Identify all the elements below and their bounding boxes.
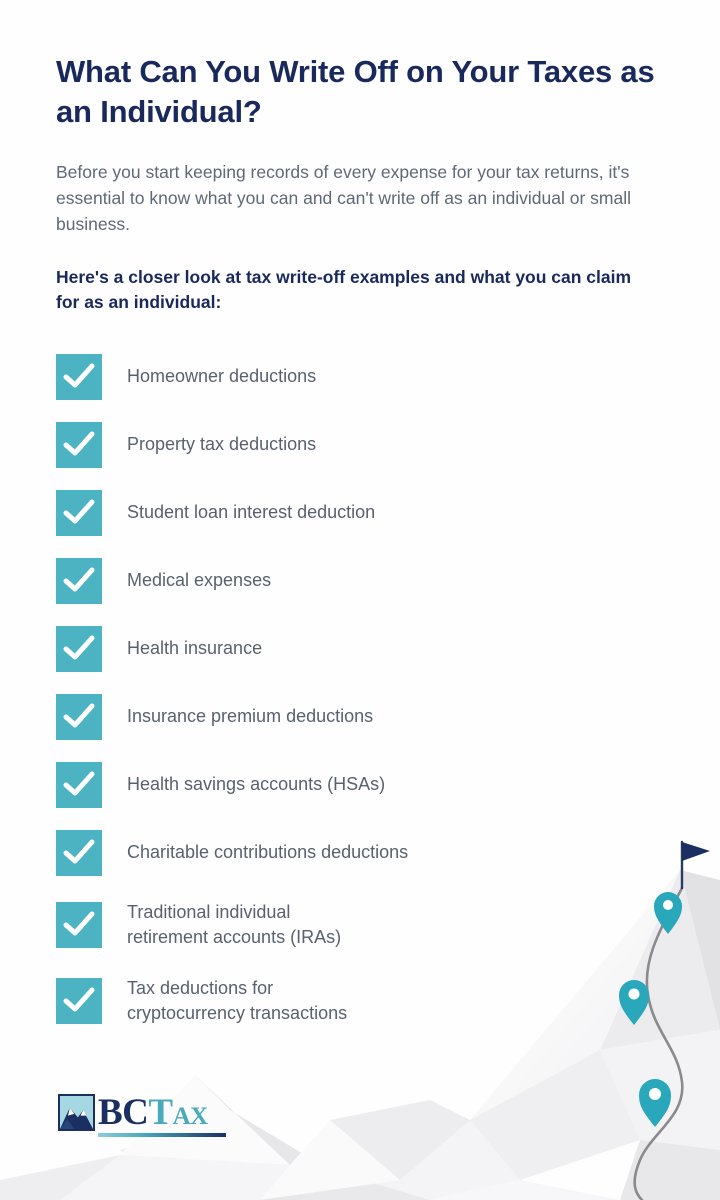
list-item: Tax deductions for cryptocurrency transa… — [56, 963, 664, 1039]
list-item: Student loan interest deduction — [56, 479, 664, 547]
checkmark-icon — [56, 978, 102, 1024]
map-pin-icon — [639, 1079, 671, 1127]
checkmark-icon — [56, 558, 102, 604]
checkmark-icon — [56, 422, 102, 468]
lead-in-text: Here's a closer look at tax write-off ex… — [56, 265, 636, 315]
infographic-content: What Can You Write Off on Your Taxes as … — [0, 0, 720, 1039]
list-item: Charitable contributions deductions — [56, 819, 664, 887]
list-item-label: Health savings accounts (HSAs) — [127, 772, 385, 796]
list-item-label: Tax deductions for cryptocurrency transa… — [127, 976, 347, 1025]
checkmark-icon — [56, 354, 102, 400]
list-item-label: Health insurance — [127, 636, 262, 660]
checkmark-icon — [56, 694, 102, 740]
logo-text-t: T — [148, 1092, 172, 1133]
logo-underline — [98, 1133, 226, 1137]
list-item: Medical expenses — [56, 547, 664, 615]
list-item: Health insurance — [56, 615, 664, 683]
checkmark-icon — [56, 490, 102, 536]
list-item-label: Homeowner deductions — [127, 364, 316, 388]
list-item-label: Insurance premium deductions — [127, 704, 373, 728]
checkmark-icon — [56, 762, 102, 808]
checkmark-icon — [56, 830, 102, 876]
logo-text-ax: AX — [173, 1103, 208, 1130]
checklist: Homeowner deductions Property tax deduct… — [56, 343, 664, 1039]
bctax-logo[interactable]: BCTAX — [58, 1094, 226, 1137]
mountain-logo-icon — [58, 1094, 95, 1131]
list-item-label: Medical expenses — [127, 568, 271, 592]
logo-text-bc: BC — [98, 1092, 148, 1133]
list-item: Homeowner deductions — [56, 343, 664, 411]
list-item-label: Student loan interest deduction — [127, 500, 375, 524]
list-item: Health savings accounts (HSAs) — [56, 751, 664, 819]
intro-paragraph: Before you start keeping records of ever… — [56, 160, 646, 238]
list-item: Insurance premium deductions — [56, 683, 664, 751]
list-item: Property tax deductions — [56, 411, 664, 479]
checkmark-icon — [56, 902, 102, 948]
list-item-label: Property tax deductions — [127, 432, 316, 456]
list-item: Traditional individual retirement accoun… — [56, 887, 664, 963]
list-item-label: Traditional individual retirement accoun… — [127, 900, 341, 949]
checkmark-icon — [56, 626, 102, 672]
list-item-label: Charitable contributions deductions — [127, 840, 408, 864]
page-title: What Can You Write Off on Your Taxes as … — [56, 52, 664, 131]
